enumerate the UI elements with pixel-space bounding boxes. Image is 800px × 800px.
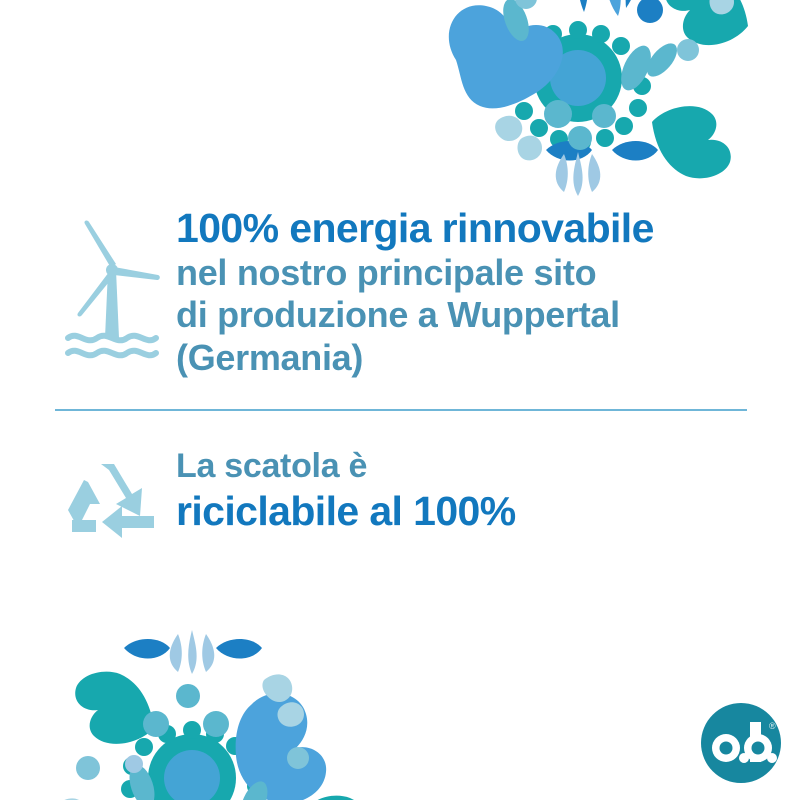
water-waves-icon [68,336,156,356]
claim-icon-wrapper [56,206,168,360]
ob-brand-logo[interactable]: ® [700,702,782,784]
claim-subline-2: di produzione a Wuppertal [176,294,756,336]
claim-recyclable-box: La scatola è riciclabile al 100% [56,446,756,548]
recycle-icon [66,460,158,548]
wind-turbine-icon [64,220,160,360]
logo-registered-mark: ® [769,721,776,731]
claims-content: 100% energia rinnovabile nel nostro prin… [0,0,800,800]
claim-subline-1: nel nostro principale sito [176,252,756,294]
claim-subline-3: (Germania) [176,337,756,379]
claim-text-block: 100% energia rinnovabile nel nostro prin… [168,206,756,379]
claim-icon-wrapper [56,446,168,548]
logo-letter-o-inner [720,742,733,755]
logo-dot-2 [767,753,777,763]
infographic-canvas: 100% energia rinnovabile nel nostro prin… [0,0,800,800]
claim-text-block: La scatola è riciclabile al 100% [168,446,756,535]
claim-renewable-energy: 100% energia rinnovabile nel nostro prin… [56,206,756,379]
claim-subline: La scatola è [176,446,756,486]
claim-headline: 100% energia rinnovabile [176,206,756,252]
logo-letter-b-bowl-inner [752,742,765,755]
claim-headline: riciclabile al 100% [176,488,756,535]
